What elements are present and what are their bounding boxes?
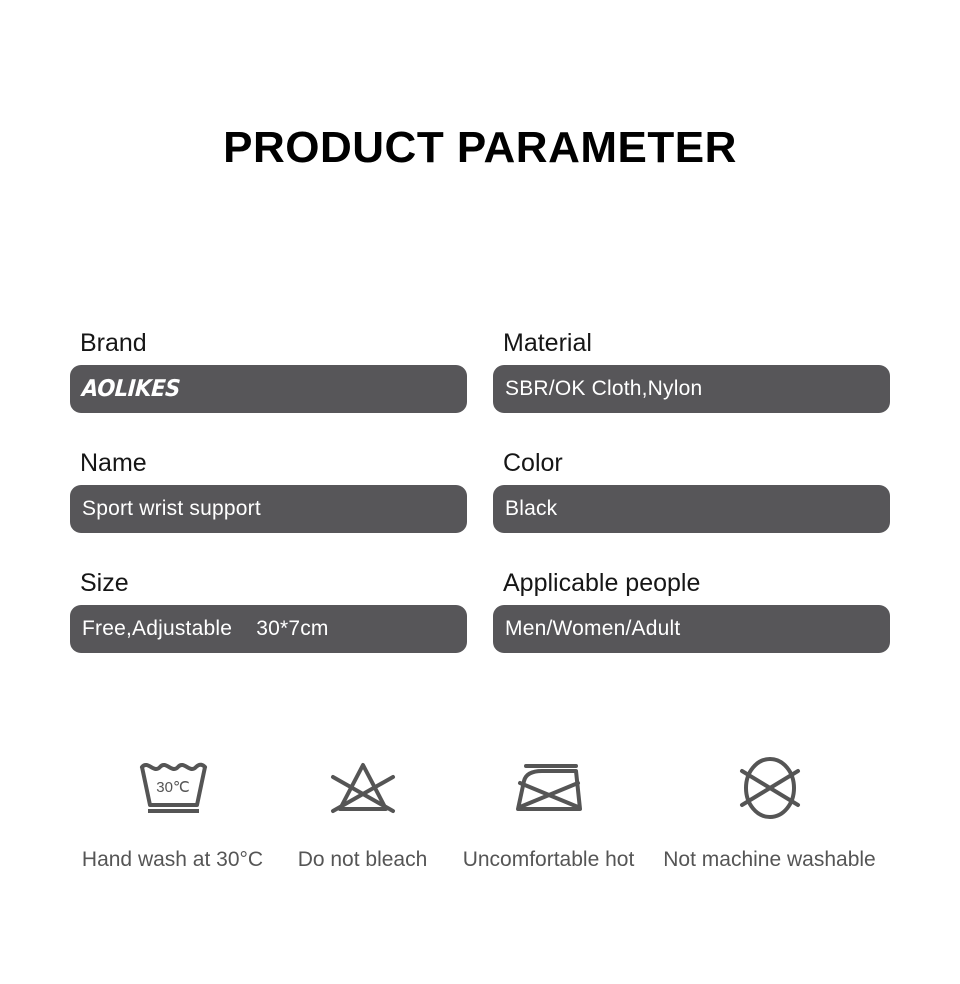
parameter-label-size: Size (80, 568, 467, 598)
do-not-iron-icon (504, 752, 594, 824)
parameter-cell-brand: Brand AOLIKES (70, 328, 467, 413)
parameter-label-name: Name (80, 448, 467, 478)
care-item-not-machine-washable: Not machine washable (647, 752, 892, 872)
parameter-label-material: Material (503, 328, 890, 358)
parameter-value-name: Sport wrist support (70, 485, 467, 533)
care-caption-do-not-bleach: Do not bleach (298, 848, 428, 872)
parameter-cell-material: Material SBR/OK Cloth,Nylon (493, 328, 890, 413)
parameter-value-applicable-people: Men/Women/Adult (493, 605, 890, 653)
care-item-do-not-iron: Uncomfortable hot (450, 752, 647, 872)
parameter-row: Brand AOLIKES Material SBR/OK Cloth,Nylo… (70, 328, 890, 413)
parameter-label-brand: Brand (80, 328, 467, 358)
not-machine-washable-icon (732, 752, 808, 824)
do-not-bleach-icon (323, 752, 403, 824)
parameter-cell-color: Color Black (493, 448, 890, 533)
care-item-hand-wash: 30℃ Hand wash at 30°C (70, 752, 275, 872)
care-instructions-row: 30℃ Hand wash at 30°C Do not bleach (70, 752, 892, 872)
parameter-label-applicable-people: Applicable people (503, 568, 890, 598)
aolikes-logo: AOLIKES (81, 376, 181, 402)
parameter-value-brand: AOLIKES (70, 365, 467, 413)
care-caption-hand-wash: Hand wash at 30°C (82, 848, 263, 872)
parameter-cell-size: Size Free,Adjustable 30*7cm (70, 568, 467, 653)
parameter-grid: Brand AOLIKES Material SBR/OK Cloth,Nylo… (70, 328, 890, 653)
page-title: PRODUCT PARAMETER (0, 124, 960, 172)
care-caption-do-not-iron: Uncomfortable hot (463, 848, 635, 872)
parameter-value-color: Black (493, 485, 890, 533)
parameter-value-size: Free,Adjustable 30*7cm (70, 605, 467, 653)
parameter-value-material: SBR/OK Cloth,Nylon (493, 365, 890, 413)
care-item-do-not-bleach: Do not bleach (275, 752, 450, 872)
parameter-row: Size Free,Adjustable 30*7cm Applicable p… (70, 568, 890, 653)
parameter-cell-applicable-people: Applicable people Men/Women/Adult (493, 568, 890, 653)
parameter-row: Name Sport wrist support Color Black (70, 448, 890, 533)
care-caption-not-machine-washable: Not machine washable (663, 848, 875, 872)
hand-wash-30c-icon: 30℃ (130, 752, 216, 824)
wash-temperature-text: 30℃ (156, 779, 190, 796)
product-parameter-page: PRODUCT PARAMETER Brand AOLIKES Material… (0, 0, 960, 984)
parameter-cell-name: Name Sport wrist support (70, 448, 467, 533)
parameter-label-color: Color (503, 448, 890, 478)
